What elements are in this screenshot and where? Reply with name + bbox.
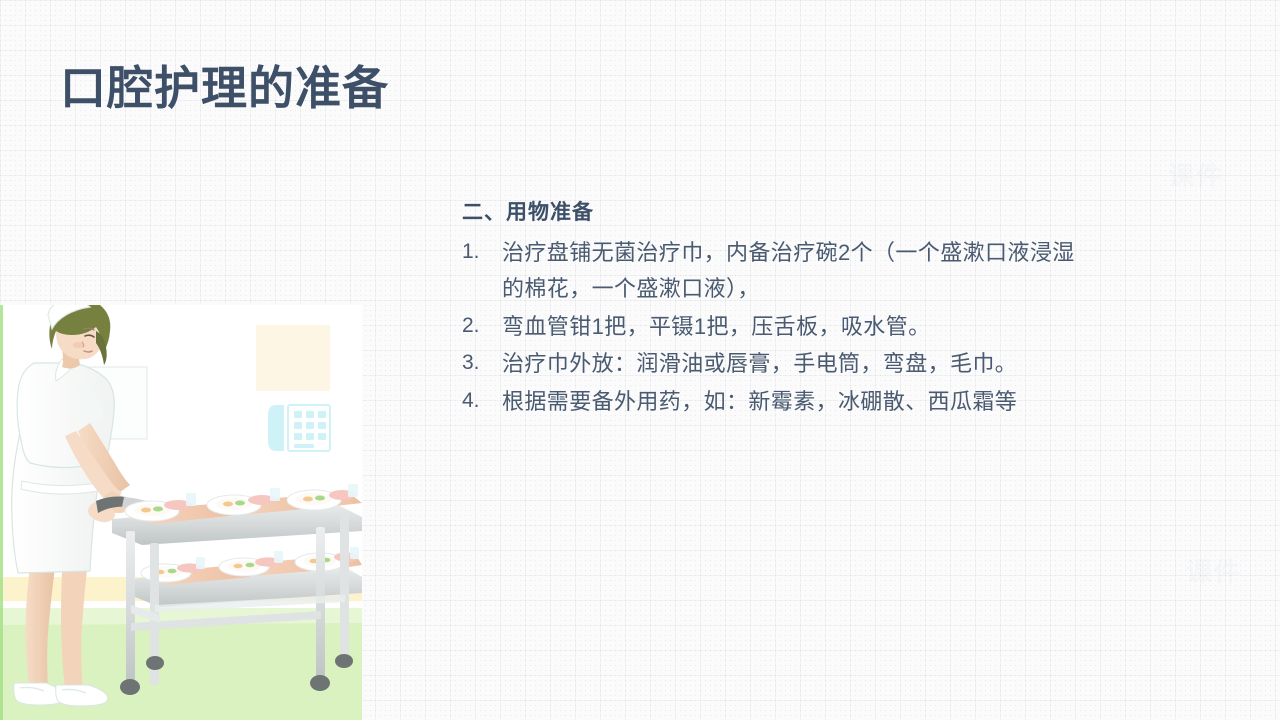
cart-caster-front-right <box>310 675 330 691</box>
content-heading: 二、用物准备 <box>462 198 1082 227</box>
nurse-cheek <box>73 342 83 348</box>
page-title: 口腔护理的准备 <box>60 62 389 115</box>
watermark-bottom: 课件 <box>1186 552 1242 589</box>
cart-caster-back-left <box>146 656 164 670</box>
wall-telephone-icon <box>268 401 330 453</box>
list-item-number: 3. <box>462 346 502 380</box>
list-item: 4. 根据需要备外用药，如：新霉素，冰硼散、西瓜霜等 <box>462 384 1082 420</box>
list-item-text: 治疗盘铺无菌治疗巾，内备治疗碗2个（一个盛漱口液浸湿的棉花，一个盛漱口液）， <box>502 235 1082 306</box>
slide-canvas: 口腔护理的准备 课件 课件 <box>0 0 1280 720</box>
wall-poster <box>256 325 330 391</box>
preparation-item-list: 1. 治疗盘铺无菌治疗巾，内备治疗碗2个（一个盛漱口液浸湿的棉花，一个盛漱口液）… <box>462 235 1082 419</box>
nurse-cart-svg <box>0 305 362 720</box>
list-item-number: 4. <box>462 384 502 418</box>
list-item: 2. 弯血管钳1把，平镊1把，压舌板，吸水管。 <box>462 309 1082 345</box>
list-item-number: 2. <box>462 309 502 343</box>
list-item: 1. 治疗盘铺无菌治疗巾，内备治疗碗2个（一个盛漱口液浸湿的棉花，一个盛漱口液）… <box>462 235 1082 306</box>
watermark-top: 课件 <box>1168 156 1224 193</box>
nurse-cart-illustration <box>0 305 362 720</box>
list-item-text: 治疗巾外放：润滑油或唇膏，手电筒，弯盘，毛巾。 <box>502 346 1082 382</box>
list-item-text: 弯血管钳1把，平镊1把，压舌板，吸水管。 <box>502 309 1082 345</box>
content-block: 二、用物准备 1. 治疗盘铺无菌治疗巾，内备治疗碗2个（一个盛漱口液浸湿的棉花，… <box>462 198 1082 422</box>
list-item: 3. 治疗巾外放：润滑油或唇膏，手电筒，弯盘，毛巾。 <box>462 346 1082 382</box>
list-item-number: 1. <box>462 235 502 269</box>
cart-leg-back-right <box>340 515 349 659</box>
cart-caster-back-right <box>335 654 353 668</box>
illustration-left-edge <box>0 305 3 720</box>
list-item-text: 根据需要备外用药，如：新霉素，冰硼散、西瓜霜等 <box>502 384 1082 420</box>
cart-caster-front-left <box>120 679 140 695</box>
